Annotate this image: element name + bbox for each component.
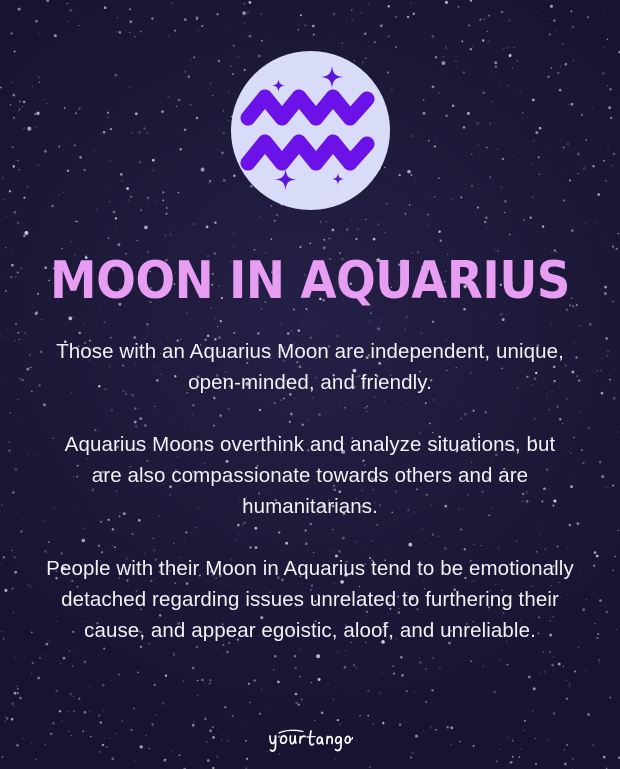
poster-canvas: MOON IN AQUARIUS Those with an Aquarius … xyxy=(0,0,620,769)
footer-brand-logo: yourtango xyxy=(0,723,620,757)
sparkle-top-right-icon xyxy=(321,66,343,88)
page-title: MOON IN AQUARIUS xyxy=(0,255,620,307)
sparkle-bottom-left-icon xyxy=(275,169,296,190)
paragraph-1: Those with an Aquarius Moon are independ… xyxy=(38,336,582,398)
description-block: Those with an Aquarius Moon are independ… xyxy=(38,336,582,646)
yourtango-script-logo-icon xyxy=(267,727,353,753)
sparkle-bottom-right-icon xyxy=(332,173,344,185)
badge-circle xyxy=(231,51,390,210)
zodiac-badge xyxy=(0,51,620,210)
paragraph-3: People with their Moon in Aquarius tend … xyxy=(38,553,582,646)
aquarius-zodiac-glyph-icon xyxy=(244,90,376,172)
paragraph-2: Aquarius Moons overthink and analyze sit… xyxy=(38,429,582,522)
